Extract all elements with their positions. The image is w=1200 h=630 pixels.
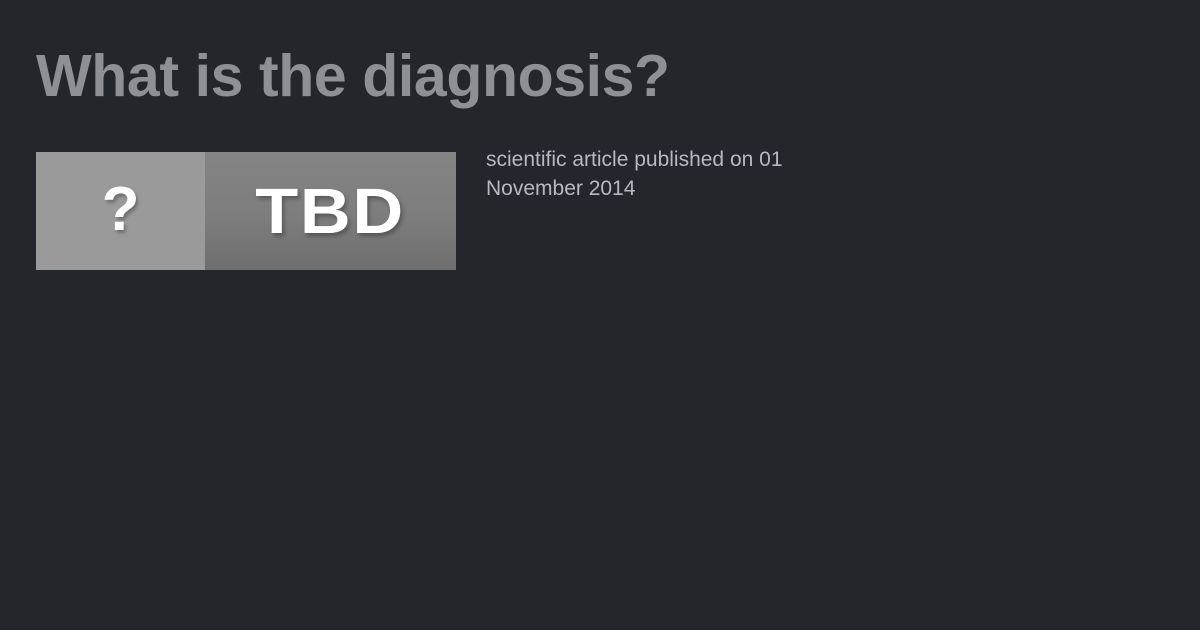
content-row: ? TBD scientific article published on 01…: [36, 152, 1164, 270]
open-graph-preview-card: What is the diagnosis? ? TBD scientific …: [0, 0, 1200, 630]
page-title: What is the diagnosis?: [36, 47, 1156, 106]
question-mark-icon: ?: [102, 179, 140, 241]
thumbnail-panel-tbd: TBD: [205, 152, 456, 270]
thumbnail-tbd-label: TBD: [256, 179, 406, 243]
article-description: scientific article published on 01 Novem…: [486, 145, 806, 203]
thumbnail-panel-question: ?: [36, 152, 205, 270]
article-thumbnail-image: ? TBD: [36, 152, 456, 270]
